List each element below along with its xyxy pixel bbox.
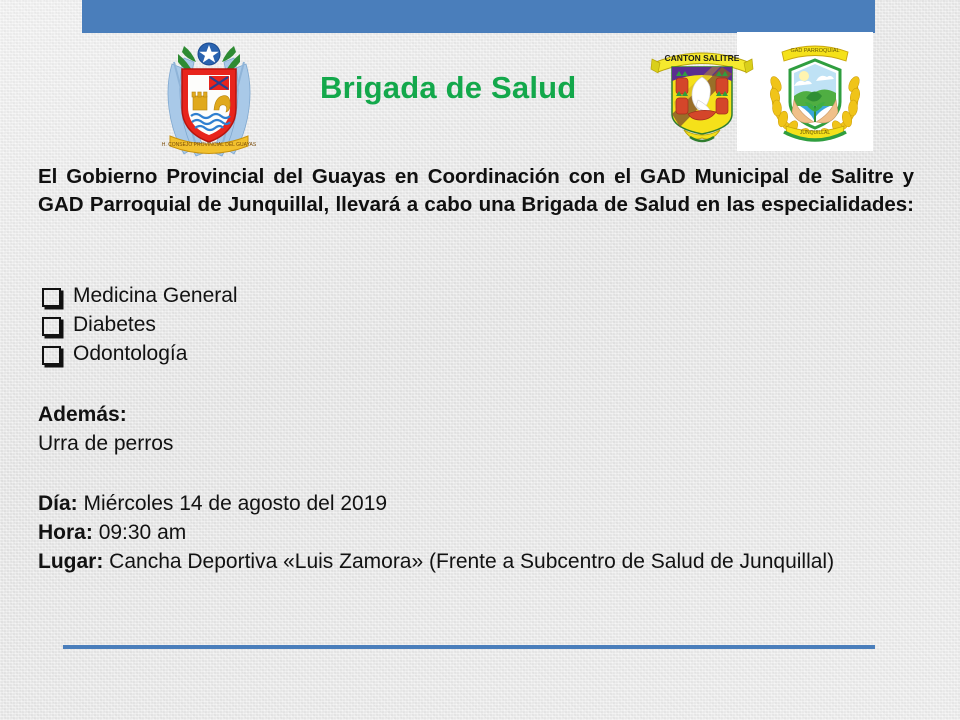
escudo-guayas-icon: H. CONSEJO PROVINCIAL DEL GUAYAS <box>154 36 264 161</box>
list-item: Odontología <box>38 339 538 368</box>
presentation-slide: H. CONSEJO PROVINCIAL DEL GUAYAS CANTON … <box>0 0 960 720</box>
checkbox-bullet-icon <box>42 346 61 365</box>
extra-services-block: Además: Urra de perros <box>38 400 638 458</box>
detail-row-lugar: Lugar: Cancha Deportiva «Luis Zamora» (F… <box>38 547 888 576</box>
checkbox-bullet-icon <box>42 288 61 307</box>
escudo-junquillal-ribbon-bottom-text: JUNQUILLAL <box>800 130 831 136</box>
detail-label-hora: Hora: <box>38 521 93 544</box>
escudo-salitre-ribbon-text: CANTON SALITRE <box>665 53 740 63</box>
event-details-block: Día: Miércoles 14 de agosto del 2019 Hor… <box>38 489 888 576</box>
extra-label: Además: <box>38 400 638 429</box>
detail-value-lugar: Cancha Deportiva «Luis Zamora» (Frente a… <box>109 550 834 573</box>
list-item: Medicina General <box>38 281 538 310</box>
intro-paragraph: El Gobierno Provincial del Guayas en Coo… <box>38 163 914 247</box>
detail-value-dia: Miércoles 14 de agosto del 2019 <box>84 492 388 515</box>
header-accent-bar <box>82 0 875 33</box>
detail-row-dia: Día: Miércoles 14 de agosto del 2019 <box>38 489 888 518</box>
list-item-label: Odontología <box>73 339 187 368</box>
list-item-label: Diabetes <box>73 310 156 339</box>
detail-value-hora: 09:30 am <box>99 521 187 544</box>
detail-label-lugar: Lugar: <box>38 550 103 573</box>
detail-label-dia: Día: <box>38 492 78 515</box>
escudo-guayas-ribbon-text: H. CONSEJO PROVINCIAL DEL GUAYAS <box>162 142 257 148</box>
escudo-junquillal-icon: GAD PARROQUIAL JUNQUILLAL <box>760 36 870 148</box>
extra-value: Urra de perros <box>38 429 638 458</box>
list-item-label: Medicina General <box>73 281 238 310</box>
page-title: Brigada de Salud <box>320 70 650 106</box>
footer-divider <box>63 645 875 649</box>
detail-row-hora: Hora: 09:30 am <box>38 518 888 547</box>
list-item: Diabetes <box>38 310 538 339</box>
escudo-junquillal-ribbon-text: GAD PARROQUIAL <box>790 48 839 54</box>
specialties-list: Medicina General Diabetes Odontología <box>38 281 538 368</box>
escudo-canton-salitre-icon: CANTON SALITRE <box>650 42 754 145</box>
checkbox-bullet-icon <box>42 317 61 336</box>
